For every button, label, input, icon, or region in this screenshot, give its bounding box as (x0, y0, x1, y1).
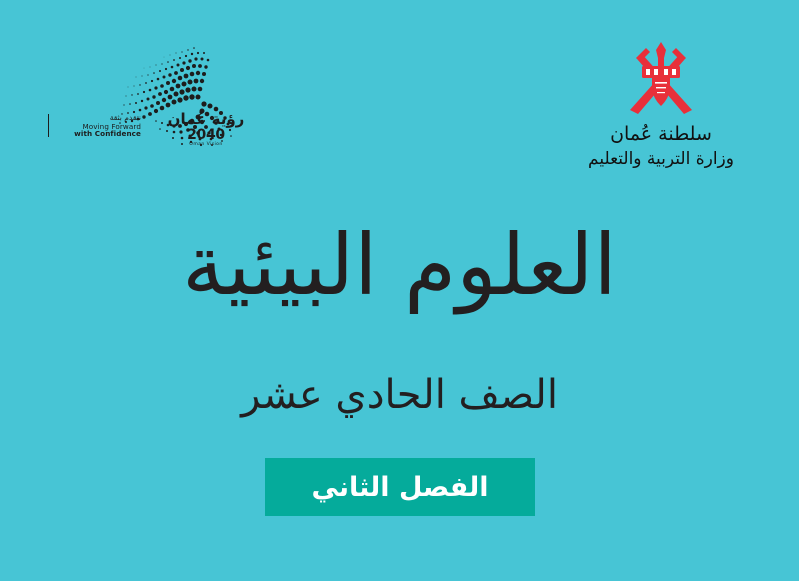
semester-badge-label: الفصل الثاني (312, 474, 489, 501)
oman-vision-2040-logo: نتقدم بثقة Moving Forward with Confidenc… (46, 40, 256, 158)
grade-label: الصف الحادي عشر (0, 372, 799, 418)
ministry-of-education-block: سلطنة عُمان وزارة التربية والتعليم (571, 38, 751, 171)
vision-tagline: نتقدم بثقة Moving Forward with Confidenc… (48, 114, 141, 137)
vision-tagline-english-line2: with Confidence (49, 130, 141, 137)
vision-wordmark-year: 2040 (158, 128, 254, 142)
ministry-line-ministry: وزارة التربية والتعليم (571, 148, 751, 171)
vision-wordmark-arabic: رؤية عُمان (158, 112, 254, 128)
vision-tagline-arabic: نتقدم بثقة (49, 114, 141, 122)
book-title: العلوم البيئية (0, 218, 799, 312)
vision-wordmark-english: Oman Vision (158, 142, 254, 148)
semester-badge: الفصل الثاني (265, 458, 535, 516)
title-block: العلوم البيئية (0, 218, 799, 312)
vision-wordmark: رؤية عُمان 2040 Oman Vision (158, 112, 254, 147)
ministry-line-sultanate: سلطنة عُمان (571, 122, 751, 148)
oman-khanjar-emblem-icon (618, 38, 704, 116)
textbook-cover: نتقدم بثقة Moving Forward with Confidenc… (0, 0, 799, 581)
